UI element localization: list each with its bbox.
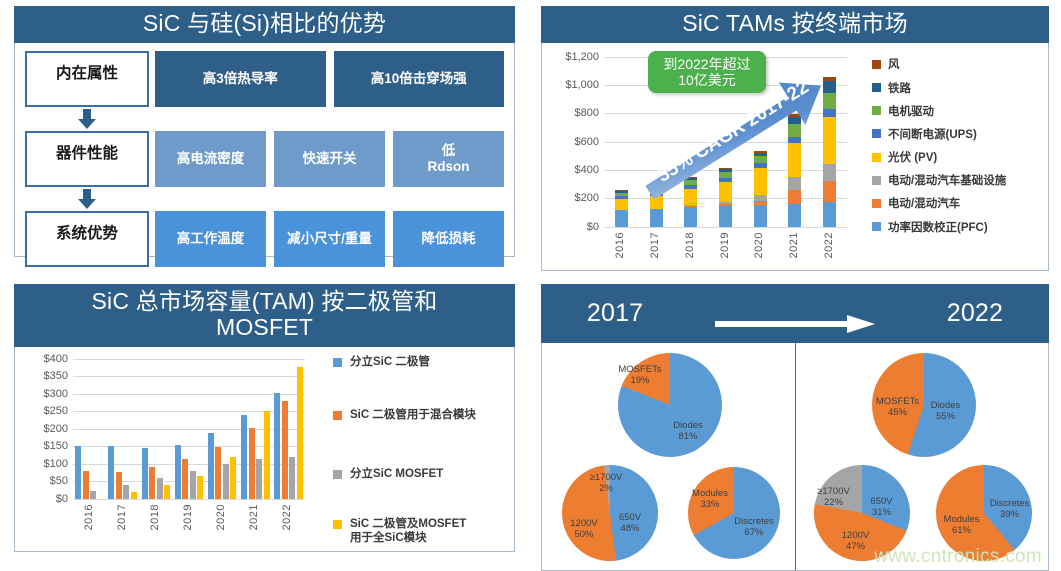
clustered-bar-chart: $0$50$100$150$200$250$300$350$4002016201… [73, 359, 305, 499]
bar-segment [754, 151, 767, 152]
x-axis-label: 2022 [281, 504, 293, 530]
row-gap [149, 107, 504, 131]
bar-segment [684, 207, 697, 227]
stage-box-device: 器件性能 [25, 131, 149, 187]
pie-slice-label: MOSFETs 19% [618, 363, 661, 385]
legend-swatch [333, 470, 342, 479]
bar-segment [788, 137, 801, 143]
bar-segment [788, 124, 801, 137]
bar [241, 415, 247, 498]
pie-column-2022: Diodes 55%MOSFETs 45%650V 31%1200V 47%≥1… [795, 343, 1049, 570]
bar [215, 447, 221, 498]
legend-item: 不间断电源(UPS) [872, 122, 1061, 145]
panel-advantages-body: 内在属性 器件性能 系统优势 高3倍热导率 高10倍击穿场强 [14, 43, 515, 257]
legend-swatch [333, 358, 342, 367]
y-axis-tick: $600 [575, 136, 604, 148]
bar-segment [719, 169, 732, 172]
bar-segment [788, 143, 801, 177]
gridline [604, 227, 847, 228]
gridline [73, 499, 305, 500]
legend-swatch [333, 520, 342, 529]
x-axis-label: 2022 [823, 232, 835, 258]
legend-item: 电机驱动 [872, 99, 1061, 122]
legend-swatch [333, 411, 342, 420]
arrow-right-icon [715, 287, 875, 339]
y-axis-tick: $50 [50, 475, 73, 487]
gridline [73, 376, 305, 377]
bar [274, 393, 280, 498]
stacked-bar-legend: 风 铁路 电机驱动 不间断电源(UPS) 光伏 (PV) 电动/混动汽车基础设施… [872, 53, 1061, 239]
pie-slice-label: ≥1700V 2% [590, 471, 623, 493]
bar-segment [719, 178, 732, 182]
x-axis-label: 2021 [248, 504, 260, 530]
pie-slices [688, 467, 780, 559]
bar [208, 433, 214, 499]
legend-swatch [872, 129, 881, 138]
benefit-chip: 高工作温度 [155, 211, 266, 267]
benefit-chip: 低 Rdson [393, 131, 504, 187]
x-axis-label: 2020 [753, 232, 765, 258]
panel-tam-end-market: SiC TAMs 按终端市场 $0$200$400$600$800$1,000$… [527, 0, 1061, 278]
pie-slice-label: 1200V 47% [842, 529, 869, 551]
legend-swatch [872, 83, 881, 92]
x-axis-label: 2016 [614, 232, 626, 258]
legend-swatch [872, 153, 881, 162]
row-gap [149, 187, 504, 211]
bar [175, 445, 181, 499]
flow-stages-column: 内在属性 器件性能 系统优势 [25, 51, 149, 267]
y-axis-tick: $200 [575, 192, 604, 204]
gridline [73, 411, 305, 412]
pie-slice-label: ≥1700V 22% [817, 485, 850, 507]
legend-item: 分立SiC 二极管 [333, 355, 430, 369]
pie-slice-label: Diodes 81% [673, 419, 703, 441]
bar [256, 459, 262, 498]
bar-segment [788, 114, 801, 117]
legend-item: 光伏 (PV) [872, 146, 1061, 169]
y-axis-tick: $300 [44, 388, 73, 400]
bar [142, 448, 148, 498]
x-axis-label: 2021 [788, 232, 800, 258]
bar-segment [684, 177, 697, 178]
bar-segment [615, 196, 628, 198]
bar [157, 478, 163, 499]
flow-benefits-column: 高3倍热导率 高10倍击穿场强 高电流密度 快速开关 低 Rdson 高工作温度… [149, 51, 504, 267]
bar-segment [615, 193, 628, 197]
benefit-chip: 高3倍热导率 [155, 51, 326, 107]
legend-swatch [872, 60, 881, 69]
bar [75, 446, 81, 498]
legend-label: 风 [888, 56, 900, 72]
gridline [73, 359, 305, 360]
bar-segment [823, 202, 836, 227]
benefit-row-system: 高工作温度 减小尺寸/重量 降低损耗 [149, 211, 504, 267]
bar-segment [684, 205, 697, 206]
bar-segment [754, 156, 767, 164]
benefit-row-intrinsic: 高3倍热导率 高10倍击穿场强 [149, 51, 504, 107]
bar [90, 491, 96, 498]
panel-advantages: SiC 与硅(Si)相比的优势 内在属性 器件性能 系统优势 高3倍热导率 [0, 0, 527, 278]
flow-arrow-icon-2 [25, 187, 149, 211]
bar-segment [684, 185, 697, 189]
legend-item: 电动/混动汽车 [872, 192, 1061, 215]
bar-segment [788, 117, 801, 124]
bar-segment [823, 181, 836, 202]
bar-segment [754, 195, 767, 201]
legend-swatch [872, 199, 881, 208]
bar-segment [719, 202, 732, 204]
legend-item: 功率因数校正(PFC) [872, 215, 1061, 238]
bar-segment [684, 180, 697, 186]
pie-column-2017: Diodes 81%MOSFETs 19%650V 48%1200V 50%≥1… [542, 343, 795, 570]
legend-label: SiC 二极管用于混合模块 [350, 408, 476, 422]
gridline [604, 113, 847, 114]
bar-segment [650, 209, 663, 227]
benefit-row-device: 高电流密度 快速开关 低 Rdson [149, 131, 504, 187]
x-axis-label: 2017 [116, 504, 128, 530]
pie-slice-label: Diodes 55% [931, 399, 961, 421]
flow-diagram: 内在属性 器件性能 系统优势 高3倍热导率 高10倍击穿场强 [25, 51, 504, 250]
x-axis-label: 2017 [649, 232, 661, 258]
y-axis-tick: $1,200 [565, 51, 604, 63]
bar-segment [719, 168, 732, 169]
bar [282, 401, 288, 499]
gridline [604, 142, 847, 143]
bar-segment [754, 168, 767, 194]
bar-segment [719, 172, 732, 178]
y-axis-tick: $1,000 [565, 79, 604, 91]
bar-segment [788, 177, 801, 189]
legend-label: 光伏 (PV) [888, 149, 937, 165]
legend-label: 电机驱动 [888, 103, 934, 119]
flow-arrow-icon [25, 107, 149, 131]
legend-item: 风 [872, 53, 1061, 76]
x-axis-label: 2018 [684, 232, 696, 258]
bar [264, 411, 270, 499]
bar [190, 471, 196, 498]
pie-slice-label: 650V 48% [619, 511, 641, 533]
x-axis-label: 2016 [83, 504, 95, 530]
pie-chart-2017-package [688, 467, 780, 559]
bar [131, 492, 137, 498]
bar-segment [684, 177, 697, 179]
bar-segment [823, 77, 836, 81]
panel-tam-diode-mosfet-title: SiC 总市场容量(TAM) 按二极管和 MOSFET [14, 284, 515, 347]
bar-segment [754, 201, 767, 205]
legend-swatch [872, 222, 881, 231]
year-label-right: 2022 [947, 299, 1003, 327]
y-axis-tick: $250 [44, 405, 73, 417]
bar [289, 457, 295, 499]
pie-slice-label: 1200V 50% [570, 517, 597, 539]
y-axis-tick: $400 [44, 353, 73, 365]
legend-swatch [872, 176, 881, 185]
x-axis-label: 2019 [719, 232, 731, 258]
bar-segment [650, 193, 663, 196]
y-axis-tick: $0 [587, 221, 604, 233]
legend-label: 电动/混动汽车基础设施 [888, 172, 1006, 188]
gridline [73, 429, 305, 430]
bar-segment [719, 206, 732, 227]
bar-segment [650, 189, 663, 194]
pie-slice-label: MOSFETs 45% [876, 395, 919, 417]
x-axis-label: 2018 [149, 504, 161, 530]
y-axis-tick: $100 [44, 458, 73, 470]
y-axis-tick: $200 [44, 423, 73, 435]
bar-segment [719, 204, 732, 206]
pie-slice-label: Discretes 67% [734, 515, 774, 537]
legend-item: 铁路 [872, 76, 1061, 99]
legend-label: 功率因数校正(PFC) [888, 219, 988, 235]
y-axis-tick: $350 [44, 370, 73, 382]
legend-label: SiC 二极管及MOSFET 用于全SiC模块 [350, 517, 466, 546]
panel-tam-end-market-title: SiC TAMs 按终端市场 [541, 6, 1049, 43]
panel-pie-body: Diodes 81%MOSFETs 19%650V 48%1200V 50%≥1… [541, 343, 1049, 571]
benefit-chip: 高10倍击穿场强 [334, 51, 505, 107]
pie-slice-label: Modules 33% [692, 487, 728, 509]
stage-box-intrinsic: 内在属性 [25, 51, 149, 107]
bar-segment [823, 164, 836, 181]
benefit-chip: 降低损耗 [393, 211, 504, 267]
bar-segment [615, 190, 628, 191]
panel-tam-diode-mosfet-body: $0$50$100$150$200$250$300$350$4002016201… [14, 347, 515, 552]
bar-segment [823, 93, 836, 109]
legend-label: 电动/混动汽车 [888, 195, 960, 211]
bar-segment [615, 199, 628, 210]
bar-segment [823, 117, 836, 164]
panel-advantages-title: SiC 与硅(Si)相比的优势 [14, 6, 515, 43]
x-axis-label: 2020 [215, 504, 227, 530]
pie-slice-label: 650V 31% [870, 495, 892, 517]
bar [297, 367, 303, 499]
bar-segment [650, 196, 663, 208]
bar-segment [788, 204, 801, 227]
legend-label: 分立SiC 二极管 [350, 355, 430, 369]
bar [182, 459, 188, 498]
bar-segment [754, 163, 767, 168]
panel-tam-end-market-body: $0$200$400$600$800$1,000$1,2002016201720… [541, 43, 1049, 271]
slide-grid: SiC 与硅(Si)相比的优势 内在属性 器件性能 系统优势 高3倍热导率 [0, 0, 1061, 557]
bar-segment [823, 81, 836, 92]
bar-segment [650, 186, 663, 188]
benefit-chip: 减小尺寸/重量 [274, 211, 385, 267]
bar-segment [754, 205, 767, 227]
y-axis-tick: $150 [44, 440, 73, 452]
legend-item: SiC 二极管用于混合模块 [333, 408, 476, 422]
bar [197, 476, 203, 498]
bar-segment [615, 191, 628, 193]
bar-segment [615, 210, 628, 227]
bar-segment [684, 206, 697, 207]
callout-badge: 到2022年超过 10亿美元 [648, 51, 766, 93]
bar [83, 471, 89, 498]
legend-item: 电动/混动汽车基础设施 [872, 169, 1061, 192]
y-axis-tick: $800 [575, 107, 604, 119]
benefit-chip: 高电流密度 [155, 131, 266, 187]
bar [230, 457, 236, 499]
legend-label: 分立SiC MOSFET [350, 467, 443, 481]
year-label-left: 2017 [587, 299, 643, 327]
pie-slice-label: Modules 61% [944, 513, 980, 535]
pie-slice-label: Discretes 39% [990, 497, 1030, 519]
legend-label: 铁路 [888, 80, 911, 96]
legend-label: 不间断电源(UPS) [888, 126, 977, 142]
panel-pie-comparison: 2017 2022 Diodes 81%MOSFETs 19%650V 48%1… [527, 278, 1061, 557]
bar [249, 428, 255, 498]
bar [164, 485, 170, 499]
panel-pie-header: 2017 2022 [541, 284, 1049, 343]
legend-swatch [872, 106, 881, 115]
gridline [73, 394, 305, 395]
bar [149, 467, 155, 499]
legend-item: SiC 二极管及MOSFET 用于全SiC模块 [333, 517, 466, 546]
bar [223, 464, 229, 499]
bar-segment [719, 182, 732, 202]
bar [123, 485, 129, 499]
y-axis-tick: $400 [575, 164, 604, 176]
stage-box-system: 系统优势 [25, 211, 149, 267]
legend-item: 分立SiC MOSFET [333, 467, 443, 481]
bar-segment [650, 185, 663, 186]
panel-tam-diode-mosfet: SiC 总市场容量(TAM) 按二极管和 MOSFET $0$50$100$15… [0, 278, 527, 557]
bar-segment [684, 189, 697, 205]
bar-segment [788, 190, 801, 204]
y-axis-tick: $0 [56, 493, 73, 505]
bar [116, 472, 122, 499]
benefit-chip: 快速开关 [274, 131, 385, 187]
bar [108, 446, 114, 498]
bar-segment [823, 109, 836, 117]
x-axis-label: 2019 [182, 504, 194, 530]
bar-segment [754, 153, 767, 156]
